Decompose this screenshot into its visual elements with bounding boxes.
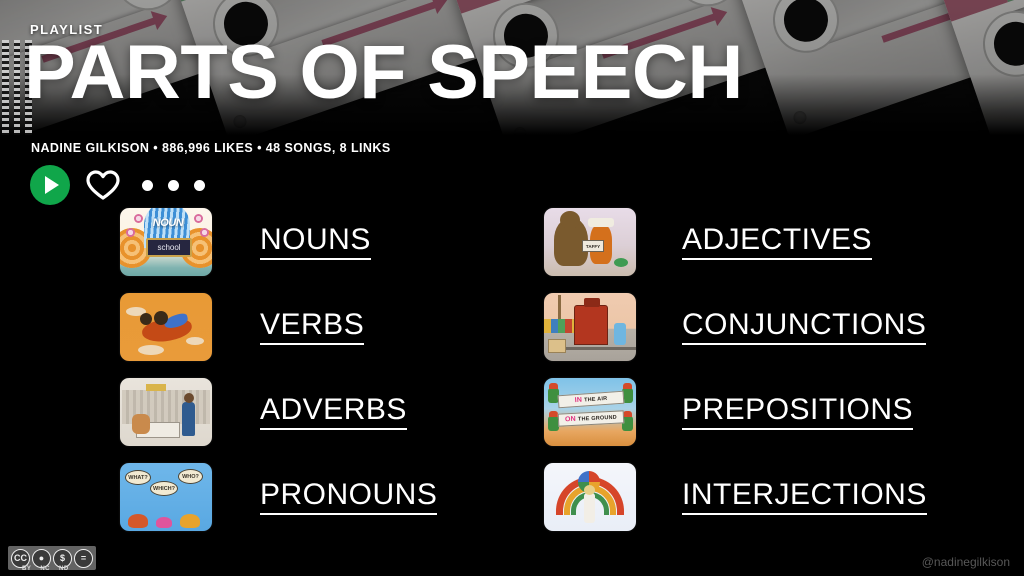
author-handle: @nadinegilkison [922, 555, 1010, 569]
cc-nd-label: ND [59, 566, 69, 572]
playlist-controls [30, 165, 205, 205]
cc-nc-label: NC [40, 566, 50, 572]
thumb-band2-highlight: ON [565, 416, 576, 424]
link-label-prepositions[interactable]: PREPOSITIONS [682, 395, 913, 430]
link-label-adverbs[interactable]: ADVERBS [260, 395, 407, 430]
prepositions-thumbnail[interactable]: IN THE AIR ON THE GROUND [544, 378, 636, 446]
heart-icon[interactable] [84, 166, 122, 204]
list-item[interactable]: INTERJECTIONS [544, 463, 1024, 531]
link-column-left: NOUN school NOUNS VERBS [0, 208, 497, 548]
cc-by-icon: ● [32, 549, 51, 568]
list-item[interactable]: VERBS [120, 293, 497, 361]
link-grid: NOUN school NOUNS VERBS [0, 208, 1024, 548]
list-item[interactable]: CONJUNCTIONS [544, 293, 1024, 361]
cc-license-labels: BY NC ND [22, 566, 69, 572]
thumb-band2-text: THE GROUND [578, 414, 617, 422]
link-label-conjunctions[interactable]: CONJUNCTIONS [682, 310, 926, 345]
thumb-bubble-what: WHAT? [125, 470, 151, 485]
cc-by-label: BY [22, 566, 31, 572]
list-item[interactable]: WHAT? WHICH? WHO? PRONOUNS [120, 463, 497, 531]
thumb-board-text: school [146, 238, 192, 257]
page-title: PARTS OF SPEECH [24, 35, 743, 111]
link-label-verbs[interactable]: VERBS [260, 310, 364, 345]
thumb-band1-text: THE AIR [584, 395, 608, 403]
link-label-adjectives[interactable]: ADJECTIVES [682, 225, 872, 260]
thumb-word: NOUN [142, 217, 194, 229]
verbs-thumbnail[interactable] [120, 293, 212, 361]
adverbs-thumbnail[interactable] [120, 378, 212, 446]
list-item[interactable]: TAFFY ADJECTIVES [544, 208, 1024, 276]
conjunctions-thumbnail[interactable] [544, 293, 636, 361]
link-column-right: TAFFY ADJECTIVES CONJUNCTIONS [527, 208, 1024, 548]
list-item[interactable]: ADVERBS [120, 378, 497, 446]
thumb-bubble-which: WHICH? [150, 481, 178, 496]
link-label-pronouns[interactable]: PRONOUNS [260, 480, 437, 515]
adjectives-thumbnail[interactable]: TAFFY [544, 208, 636, 276]
cc-icon: CC [11, 549, 30, 568]
thumb-band1-highlight: IN [574, 397, 582, 404]
playlist-meta: NADINE GILKISON • 886,996 LIKES • 48 SON… [31, 141, 391, 155]
play-icon[interactable] [30, 165, 70, 205]
list-item[interactable]: NOUN school NOUNS [120, 208, 497, 276]
more-dots-icon[interactable] [142, 180, 205, 191]
thumb-bubble-who: WHO? [178, 469, 203, 484]
cc-nd-icon: = [74, 549, 93, 568]
list-item[interactable]: IN THE AIR ON THE GROUND PREPOSITIONS [544, 378, 1024, 446]
interjections-thumbnail[interactable] [544, 463, 636, 531]
nouns-thumbnail[interactable]: NOUN school [120, 208, 212, 276]
link-label-nouns[interactable]: NOUNS [260, 225, 371, 260]
link-label-interjections[interactable]: INTERJECTIONS [682, 480, 927, 515]
cc-nc-icon: $ [53, 549, 72, 568]
pronouns-thumbnail[interactable]: WHAT? WHICH? WHO? [120, 463, 212, 531]
thumb-sign-text: TAFFY [582, 240, 604, 252]
